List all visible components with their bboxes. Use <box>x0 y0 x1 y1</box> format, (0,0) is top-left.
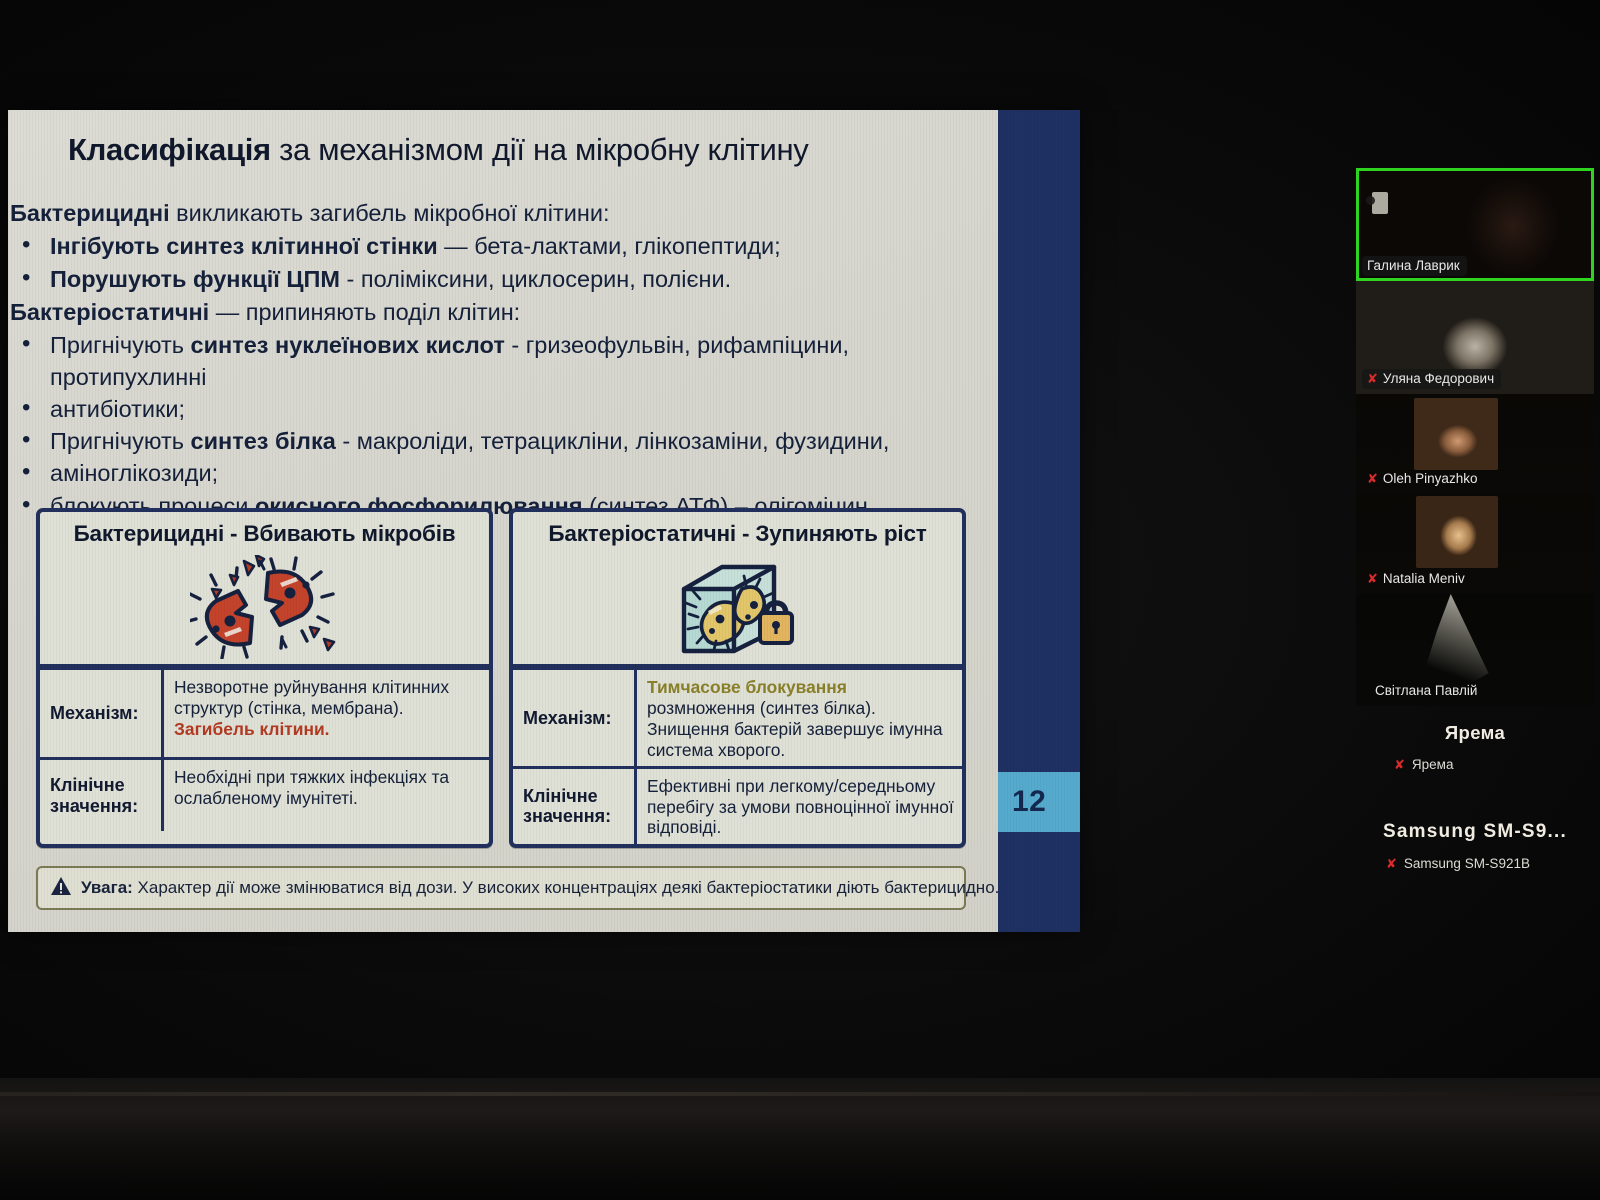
participant-label: Галина Лаврик <box>1367 258 1460 273</box>
bullet-bold: синтез нуклеїнових кислот <box>191 332 505 358</box>
row-value-plain: розмноження (синтез білка). Знищення бак… <box>647 698 943 760</box>
participant-tile-natalia-meniv[interactable]: ✘ Natalia Meniv <box>1356 494 1594 594</box>
participant-name-badge: ✘ Oleh Pinyazhko <box>1362 469 1484 489</box>
bullet-pre: Пригнічують <box>50 428 191 454</box>
participant-tile-ulyana-fedorovych[interactable]: ✘ Уляна Федорович <box>1356 281 1594 394</box>
row-value: Ефективні при легкому/середньому перебіг… <box>637 769 962 844</box>
list-item: Пригнічують синтез білка - макроліди, те… <box>8 426 988 457</box>
mic-muted-icon: ✘ <box>1386 857 1397 870</box>
table-row: Клінічне значення: Ефективні при легкому… <box>513 766 962 844</box>
shared-presentation-slide[interactable]: Класифікація за механізмом дії на мікроб… <box>8 110 1080 932</box>
row-value: Необхідні при тяжких інфекціях та ослабл… <box>164 760 489 831</box>
participant-name-badge: ✘ Уляна Федорович <box>1362 369 1501 389</box>
participant-label: Уляна Федорович <box>1383 371 1494 386</box>
bullet-cont: антибіотики; <box>50 396 185 422</box>
row-value-accent: Тимчасове блокування <box>647 677 847 697</box>
row-value-plain: Незворотне руйнування клітинних структур… <box>174 677 449 718</box>
comparison-tables: Бактерицидні - Вбивають мікробів <box>36 508 966 848</box>
warning-label: Увага: <box>81 878 133 897</box>
bactericidal-bullets: Інгібують синтез клітинної стінки — бета… <box>8 231 988 295</box>
table-row: Механізм: Незворотне руйнування клітинни… <box>40 667 489 757</box>
warning-triangle-icon <box>50 876 72 901</box>
group-title-yarema: Ярема <box>1356 706 1594 754</box>
table-row: Клінічне значення: Необхідні при тяжких … <box>40 757 489 831</box>
bacteriostatic-lead: Бактеріостатичні — припиняють поділ кліт… <box>8 297 988 330</box>
broken-bacteria-icon <box>40 555 489 667</box>
bullet-pre: Пригнічують <box>50 332 191 358</box>
bullet-rest: — бета-лактами, глікопептиди; <box>438 233 781 259</box>
mic-muted-icon: ✘ <box>1367 372 1378 385</box>
participant-label: Ярема <box>1412 757 1454 772</box>
table-row: Механізм: Тимчасове блокування розмножен… <box>513 667 962 766</box>
row-value-accent: Загибель клітини. <box>174 719 330 739</box>
participant-row-samsung[interactable]: ✘ Samsung SM-S921B <box>1356 853 1594 874</box>
bullet-bold: Порушують функції ЦПМ <box>50 266 340 292</box>
row-label: Клінічне значення: <box>40 760 164 831</box>
slide-body: Бактерицидні викликають загибель мікробн… <box>8 198 988 555</box>
participant-label: Oleh Pinyazhko <box>1383 471 1478 486</box>
page-title-bold: Класифікація <box>68 132 271 167</box>
slide-number-badge: 12 <box>998 772 1080 832</box>
panel-spacer <box>1356 775 1594 805</box>
mic-muted-icon: ✘ <box>1394 758 1405 771</box>
participant-name-badge: ✘ Natalia Meniv <box>1362 569 1472 589</box>
participant-name-badge: Світлана Павлій <box>1370 681 1484 701</box>
bacteriostatic-card-header: Бактеріостатичні - Зупиняють ріст <box>513 512 962 555</box>
warning-body: Характер дії може змінюватися від дози. … <box>133 878 1000 897</box>
participant-row-yarema[interactable]: ✘ Ярема <box>1356 754 1594 775</box>
list-item: Інгібують синтез клітинної стінки — бета… <box>8 231 988 262</box>
mic-muted-icon: ✘ <box>1367 572 1378 585</box>
bacteriostatic-card: Бактеріостатичні - Зупиняють ріст <box>509 508 966 848</box>
bullet-bold: Інгібують синтез клітинної стінки <box>50 233 438 259</box>
bactericidal-lead-rest: викликають загибель мікробної клітини: <box>170 200 610 226</box>
participant-tile-oleh-pinyazhko[interactable]: ✘ Oleh Pinyazhko <box>1356 394 1594 494</box>
bullet-rest: - макроліди, тетрацикліни, лінкозаміни, … <box>336 428 890 454</box>
page-title-rest: за механізмом дії на мікробну клітину <box>271 132 809 167</box>
warning-text: Увага: Характер дії може змінюватися від… <box>81 878 999 898</box>
bullet-rest: - поліміксини, циклосерин, полієни. <box>340 266 731 292</box>
webcam-background-object <box>1372 192 1388 214</box>
bactericidal-lead-bold: Бактерицидні <box>10 200 170 226</box>
warning-note: Увага: Характер дії може змінюватися від… <box>36 866 966 910</box>
monitor-photo: Класифікація за механізмом дії на мікроб… <box>0 0 1600 1200</box>
list-item: Порушують функції ЦПМ - поліміксини, цик… <box>8 264 988 295</box>
row-value: Тимчасове блокування розмноження (синтез… <box>637 670 962 766</box>
avatar <box>1416 496 1498 568</box>
participant-label: Samsung SM-S921B <box>1404 856 1530 871</box>
list-item-continuation: аміноглікозиди; <box>8 458 988 489</box>
row-label: Механізм: <box>513 670 637 766</box>
participant-name-badge: Галина Лаврик <box>1362 256 1467 276</box>
bullet-cont: аміноглікозиди; <box>50 460 218 486</box>
participant-tile-svitlana-pavlii[interactable]: Світлана Павлій <box>1356 594 1594 706</box>
participant-label: Natalia Meniv <box>1383 571 1465 586</box>
slide-canvas: Класифікація за механізмом дії на мікроб… <box>8 110 998 932</box>
row-label: Клінічне значення: <box>513 769 637 844</box>
bacteriostatic-lead-bold: Бактеріостатичні <box>10 299 209 325</box>
participant-tile-galyna-lavryk[interactable]: Галина Лаврик <box>1356 168 1594 281</box>
bullet-bold: синтез білка <box>191 428 336 454</box>
avatar <box>1414 398 1498 470</box>
page-title: Класифікація за механізмом дії на мікроб… <box>68 132 948 168</box>
participant-panel: Галина Лаврик ✘ Уляна Федорович ✘ Oleh P… <box>1356 168 1594 958</box>
bacteriostatic-lead-rest: — припиняють поділ клітин: <box>209 299 520 325</box>
row-label: Механізм: <box>40 670 164 757</box>
list-item: Пригнічують синтез нуклеїнових кислот - … <box>8 330 988 393</box>
list-item-continuation: антибіотики; <box>8 394 988 425</box>
bactericidal-card-header: Бактерицидні - Вбивають мікробів <box>40 512 489 555</box>
caged-bacteria-lock-icon <box>513 555 962 667</box>
webcam-light-shape <box>1406 594 1492 686</box>
monitor-bezel <box>0 1078 1600 1200</box>
participant-label: Світлана Павлій <box>1375 683 1477 698</box>
desk-edge <box>0 1092 1600 1096</box>
bactericidal-lead: Бактерицидні викликають загибель мікробн… <box>8 198 988 231</box>
row-value: Незворотне руйнування клітинних структур… <box>164 670 489 757</box>
mic-muted-icon: ✘ <box>1367 472 1378 485</box>
group-title-samsung: Samsung SM-S9... <box>1356 805 1594 853</box>
webcam-background-object-2 <box>1366 196 1375 205</box>
bactericidal-card: Бактерицидні - Вбивають мікробів <box>36 508 493 848</box>
